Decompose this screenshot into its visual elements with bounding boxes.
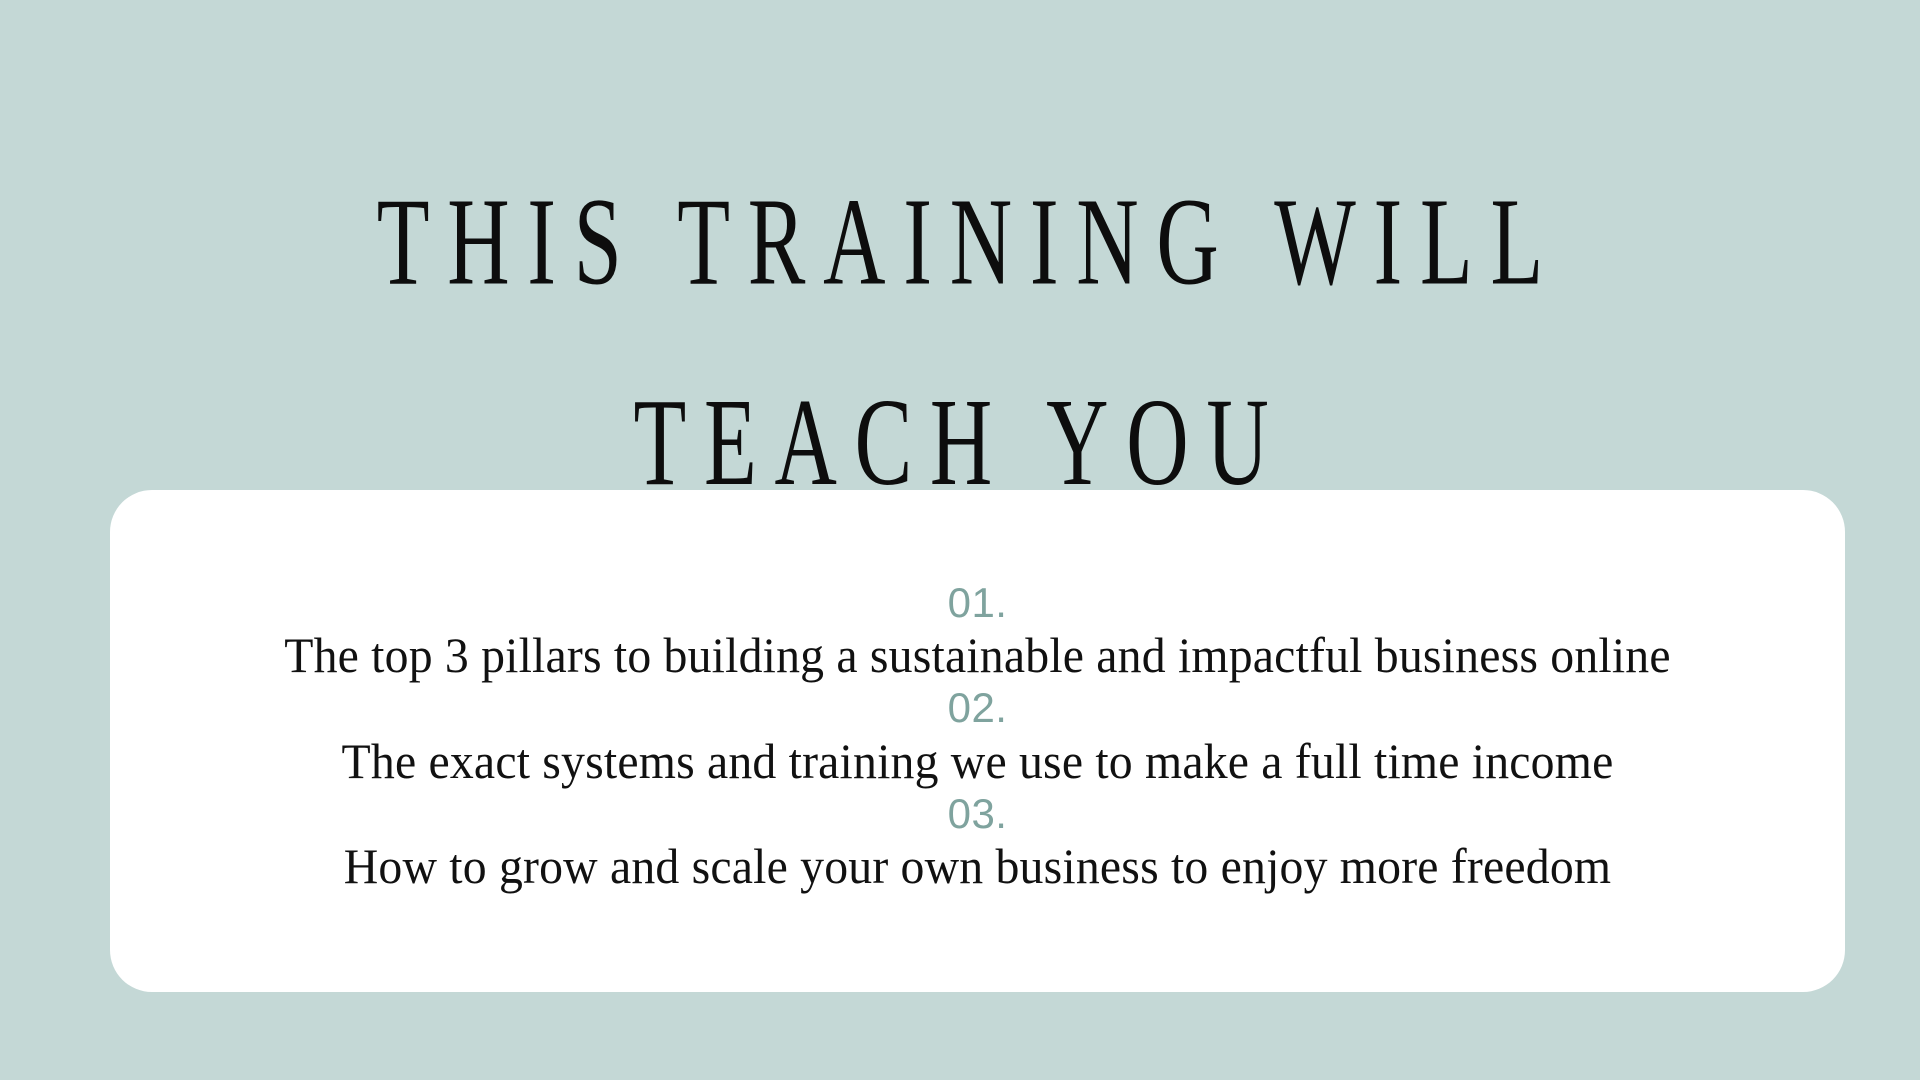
list-item: 01. The top 3 pillars to building a sust… <box>150 580 1805 685</box>
list-item-text: How to grow and scale your own business … <box>187 836 1768 896</box>
list-item-number: 01. <box>150 580 1805 625</box>
list-item-number: 03. <box>150 791 1805 836</box>
page-title: THIS TRAINING WILL TEACH YOU <box>96 142 1824 541</box>
list-item-text: The top 3 pillars to building a sustaina… <box>187 625 1768 685</box>
list-item-number: 02. <box>150 685 1805 730</box>
list-item-text: The exact systems and training we use to… <box>187 731 1768 791</box>
slide-canvas: THIS TRAINING WILL TEACH YOU 01. The top… <box>0 0 1920 1080</box>
training-outcomes-card: 01. The top 3 pillars to building a sust… <box>110 490 1845 992</box>
list-item: 03. How to grow and scale your own busin… <box>150 791 1805 896</box>
list-item: 02. The exact systems and training we us… <box>150 685 1805 790</box>
